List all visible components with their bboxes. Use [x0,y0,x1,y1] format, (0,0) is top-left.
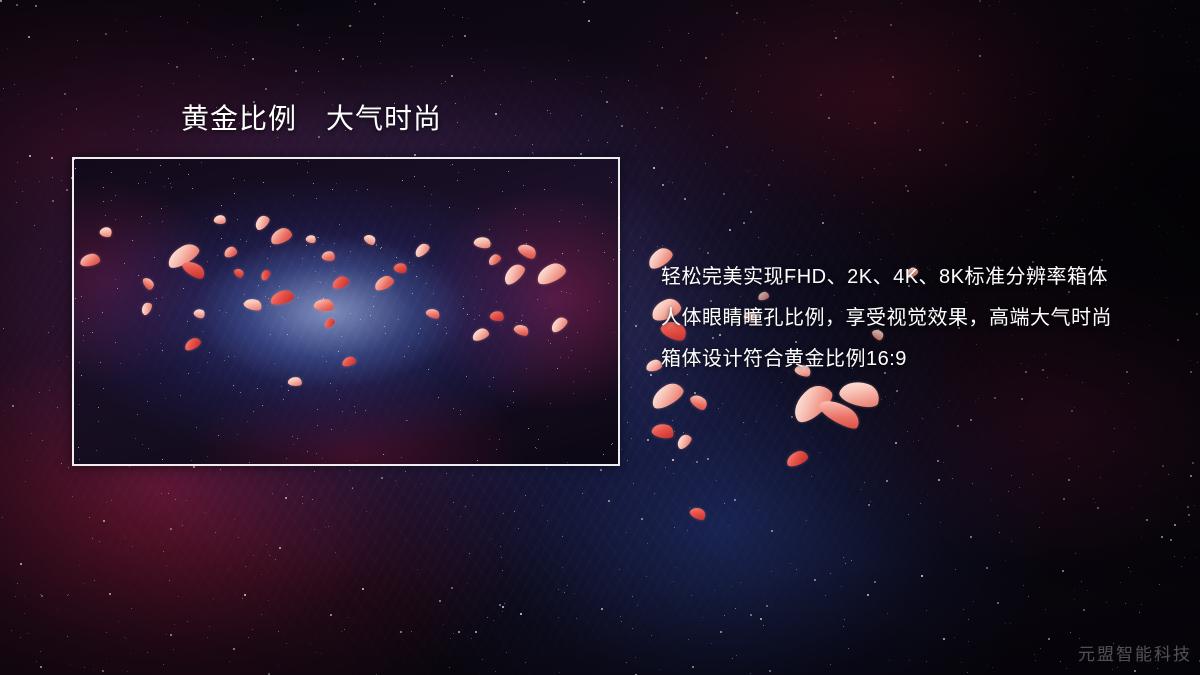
page-title: 黄金比例 大气时尚 [181,102,442,136]
preview-image-frame [72,157,620,466]
flower-petal [651,422,676,441]
flower-petal [648,379,687,412]
body-line: 人体眼睛瞳孔比例，享受视觉效果，高端大气时尚 [661,298,1161,339]
body-line: 轻松完美实现FHD、2K、4K、8K标准分辨率箱体 [661,257,1161,298]
presentation-slide: 黄金比例 大气时尚 轻松完美实现FHD、2K、4K、8K标准分辨率箱体 人体眼睛… [0,0,1200,675]
body-line: 箱体设计符合黄金比例16:9 [661,339,1161,380]
preview-starfield [74,159,75,160]
flower-petal [688,505,707,523]
flower-petal [787,379,838,427]
body-text-block: 轻松完美实现FHD、2K、4K、8K标准分辨率箱体 人体眼睛瞳孔比例，享受视觉效… [661,257,1161,380]
flower-petal [837,376,882,411]
flower-petal [688,392,709,413]
starfield-foreground [0,0,2,2]
preview-nebula-filaments [74,159,618,464]
flower-petal [674,432,693,451]
flower-petal [816,394,863,433]
flower-petal [784,449,809,469]
watermark-label: 元盟智能科技 [1078,640,1192,665]
